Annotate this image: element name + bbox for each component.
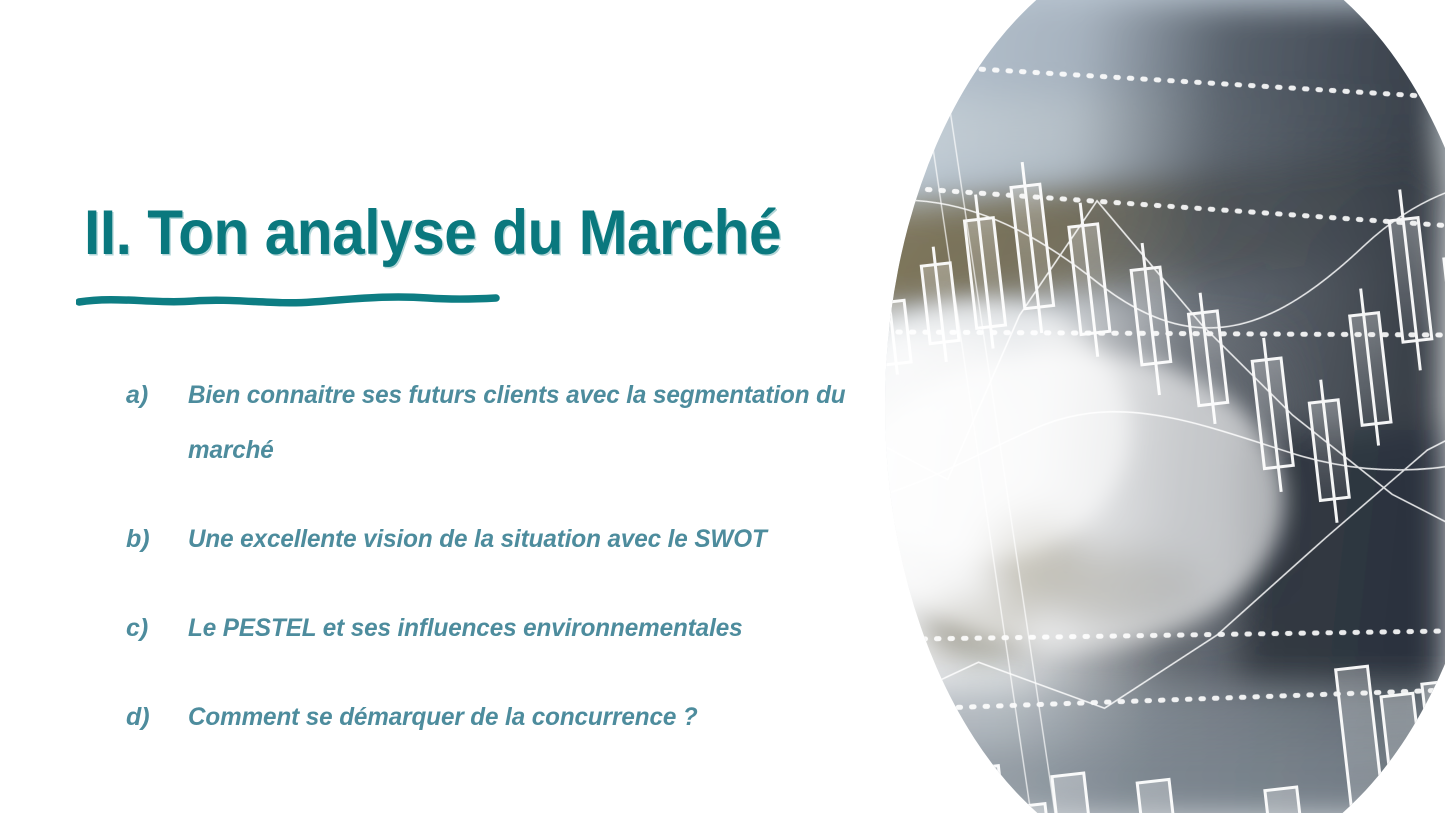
list-item-label: Comment se démarquer de la concurrence ? — [188, 690, 896, 745]
list-item: c) Le PESTEL et ses influences environne… — [40, 601, 920, 656]
list-item: b) Une excellente vision de la situation… — [40, 512, 920, 567]
title-underline-stroke — [76, 286, 500, 312]
slide-canvas: 6.6 1.65 II. Ton a — [0, 0, 1445, 813]
text-column: II. Ton analyse du Marché a) Bien connai… — [0, 0, 880, 813]
financial-chart-photo: 6.6 1.65 — [860, 0, 1445, 813]
list-item-marker: a) — [126, 368, 188, 423]
list-item-marker: b) — [126, 512, 188, 567]
list-item-marker: d) — [126, 690, 188, 745]
page-title: II. Ton analyse du Marché — [84, 196, 819, 270]
list-item: a) Bien connaitre ses futurs clients ave… — [40, 368, 920, 478]
agenda-list: a) Bien connaitre ses futurs clients ave… — [0, 368, 920, 745]
list-item: d) Comment se démarquer de la concurrenc… — [40, 690, 920, 745]
list-item-label: Une excellente vision de la situation av… — [188, 512, 896, 567]
list-item-label: Bien connaitre ses futurs clients avec l… — [188, 368, 896, 478]
list-item-marker: c) — [126, 601, 188, 656]
list-item-label: Le PESTEL et ses influences environnemen… — [188, 601, 896, 656]
